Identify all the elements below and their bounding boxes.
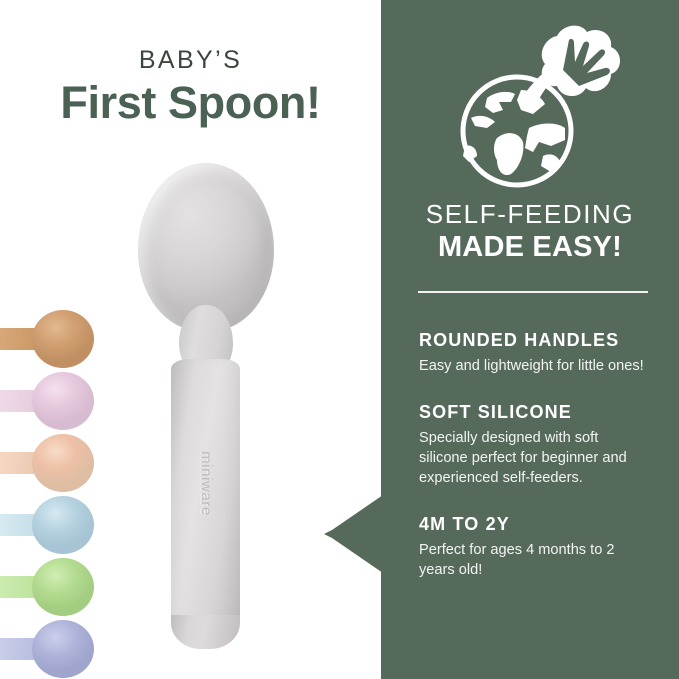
feature-body: Specially designed with soft silicone pe…: [419, 428, 647, 488]
feature-list: ROUNDED HANDLES Easy and lightweight for…: [419, 330, 659, 580]
left-pointing-arrow-icon: [321, 494, 383, 574]
color-variant-strip: [0, 300, 94, 665]
headline-eyebrow: BABY’S: [0, 48, 381, 73]
spoon-handle-end: [171, 615, 240, 649]
feature-title: 4M TO 2Y: [419, 514, 659, 535]
right-features-panel: SELF-FEEDING MADE EASY! ROUNDED HANDLES …: [381, 0, 679, 679]
color-spoon-caramel: [0, 310, 94, 368]
globe-sprout-icon: [459, 18, 625, 193]
feature-title: ROUNDED HANDLES: [419, 330, 659, 351]
spoon-bowl: [32, 496, 94, 554]
left-product-panel: BABY’S First Spoon!: [0, 0, 381, 679]
spoon-bowl: [32, 620, 94, 678]
brand-emboss-label: miniware: [198, 424, 215, 544]
spoon-bowl: [32, 310, 94, 368]
panel-title-line-2: MADE EASY!: [381, 231, 679, 264]
color-spoon-pink: [0, 372, 94, 430]
headline-title: First Spoon!: [0, 79, 381, 126]
feature-item-age-range: 4M TO 2Y Perfect for ages 4 months to 2 …: [419, 514, 659, 580]
feature-title: SOFT SILICONE: [419, 402, 659, 423]
hero-spoon-image: miniware: [132, 163, 280, 653]
feature-item-rounded-handles: ROUNDED HANDLES Easy and lightweight for…: [419, 330, 659, 376]
color-spoon-blue: [0, 496, 94, 554]
color-spoon-periwinkle: [0, 620, 94, 678]
spoon-bowl: [32, 558, 94, 616]
spoon-bowl: [32, 372, 94, 430]
title-divider: [418, 291, 648, 293]
feature-body: Easy and lightweight for little ones!: [419, 356, 647, 376]
panel-title-block: SELF-FEEDING MADE EASY!: [381, 200, 679, 264]
panel-title-line-1: SELF-FEEDING: [381, 200, 679, 229]
feature-body: Perfect for ages 4 months to 2 years old…: [419, 540, 647, 580]
product-infographic: BABY’S First Spoon!: [0, 0, 679, 679]
color-spoon-green: [0, 558, 94, 616]
headline-block: BABY’S First Spoon!: [0, 48, 381, 126]
spoon-bowl: [32, 434, 94, 492]
feature-item-soft-silicone: SOFT SILICONE Specially designed with so…: [419, 402, 659, 488]
color-spoon-peach: [0, 434, 94, 492]
